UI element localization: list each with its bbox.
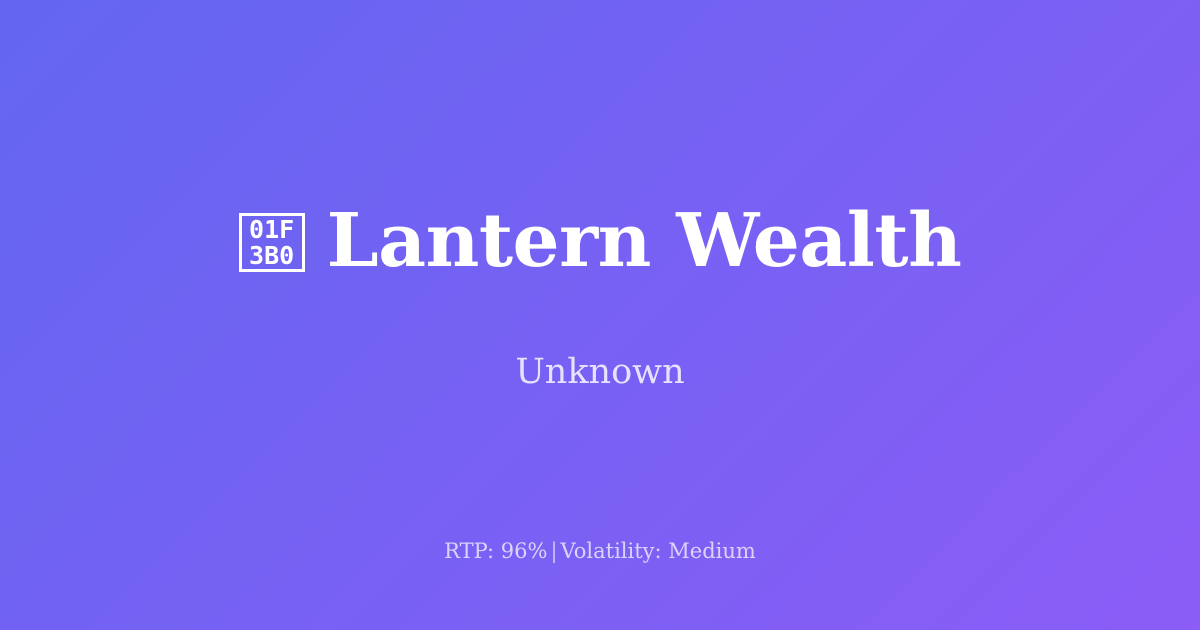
game-meta-footer: RTP: 96%|Volatility: Medium bbox=[0, 538, 1200, 564]
tofu-hex-top: 01F bbox=[249, 217, 294, 242]
title-row: 01F 3B0 Lantern Wealth bbox=[239, 199, 962, 283]
volatility-label: Volatility: Medium bbox=[561, 539, 756, 563]
og-share-card: 01F 3B0 Lantern Wealth Unknown RTP: 96%|… bbox=[0, 0, 1200, 630]
page-subtitle: Unknown bbox=[515, 283, 684, 393]
page-title: Lantern Wealth bbox=[327, 199, 962, 283]
rtp-label: RTP: 96% bbox=[444, 539, 547, 563]
meta-separator: | bbox=[547, 539, 560, 563]
tofu-hex-bottom: 3B0 bbox=[249, 243, 294, 268]
hero-block: 01F 3B0 Lantern Wealth Unknown bbox=[0, 199, 1200, 393]
slot-machine-icon: 01F 3B0 bbox=[239, 213, 305, 272]
